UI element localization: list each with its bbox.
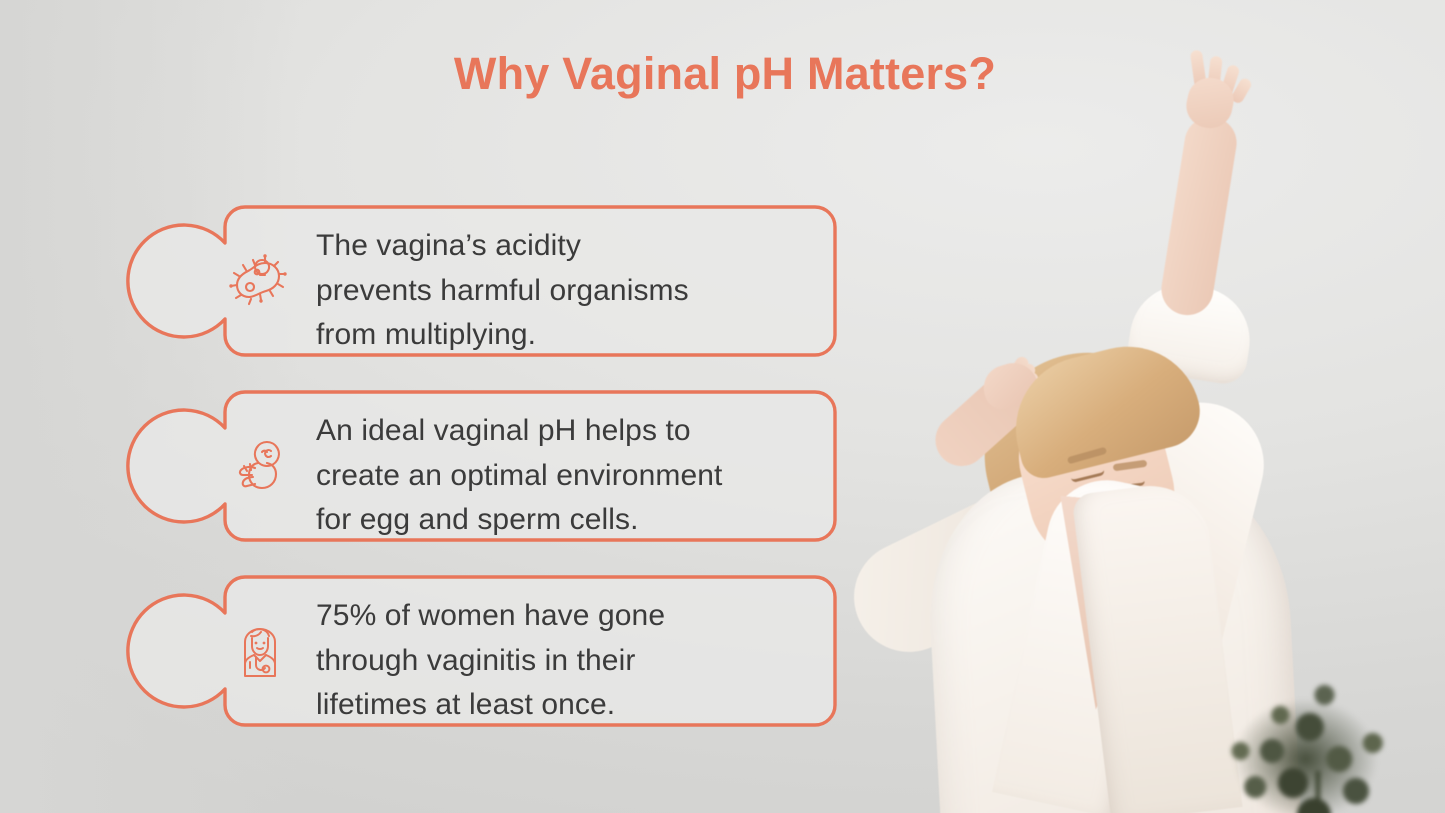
callout-text: 75% of women have gone through vaginitis… xyxy=(316,594,846,728)
callout-card[interactable]: 75% of women have gone through vaginitis… xyxy=(203,577,837,725)
female-doctor-icon xyxy=(220,611,300,691)
potted-plant xyxy=(1209,627,1419,813)
callout-card[interactable]: An ideal vaginal pH helps to create an o… xyxy=(203,392,837,540)
callout-card[interactable]: The vagina’s acidity prevents harmful or… xyxy=(203,207,837,355)
infographic-canvas: Why Vaginal pH Matters? xyxy=(0,0,1445,813)
callout-text: An ideal vaginal pH helps to create an o… xyxy=(316,409,896,543)
callout-text: The vagina’s acidity prevents harmful or… xyxy=(316,224,846,358)
bacteria-icon xyxy=(220,241,300,321)
right-hand xyxy=(1173,52,1259,136)
page-title: Why Vaginal pH Matters? xyxy=(360,44,1090,104)
right-forearm xyxy=(1158,113,1241,319)
baby-fetus-icon xyxy=(220,426,300,506)
